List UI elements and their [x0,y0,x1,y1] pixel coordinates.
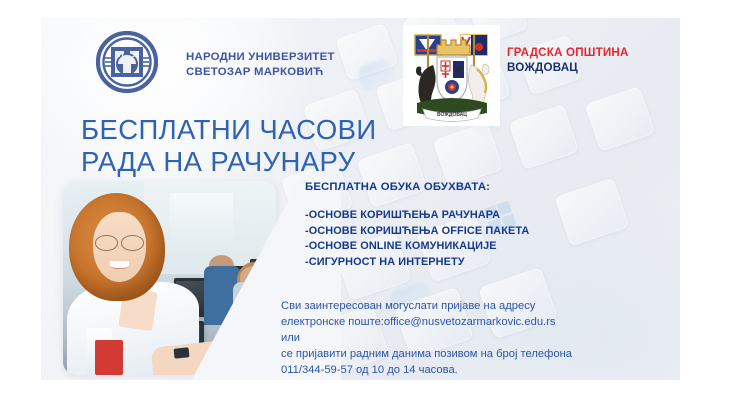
municipality-name: ГРАДСКА ОПШТИНА ВОЖДОВАЦ [507,45,629,76]
poster-canvas: Н У НАРОДНИ УНИВЕРЗИТЕТ СВЕТОЗАР МАРКОВИ… [0,0,735,409]
contact-info: Сви заинтересован могуслати пријаве на а… [281,299,676,379]
svg-text:Н: Н [118,50,124,59]
university-name: НАРОДНИ УНИВЕРЗИТЕТ СВЕТОЗАР МАРКОВИЋ [186,50,335,80]
page-title: БЕСПЛАТНИ ЧАСОВИ РАДА НА РАЧУНАРУ [81,114,377,178]
municipality-line-2: ВОЖДОВАЦ [507,61,578,74]
svg-text:ВОЖДОВАЦ: ВОЖДОВАЦ [437,112,467,118]
poster-board: Н У НАРОДНИ УНИВЕРЗИТЕТ СВЕТОЗАР МАРКОВИ… [41,18,680,380]
program-item-list: -ОСНОВЕ КОРИШЋЕЊА РАЧУНАРА -ОСНОВЕ КОРИШ… [305,208,529,271]
program-heading: БЕСПЛАТНА ОБУКА ОБУХВАТА: [305,181,490,193]
university-logo-icon: Н У [96,31,158,93]
vozdovac-coat-of-arms-icon: ВОЖДОВАЦ [403,25,500,126]
municipality-line-1: ГРАДСКА ОПШТИНА [507,46,629,59]
